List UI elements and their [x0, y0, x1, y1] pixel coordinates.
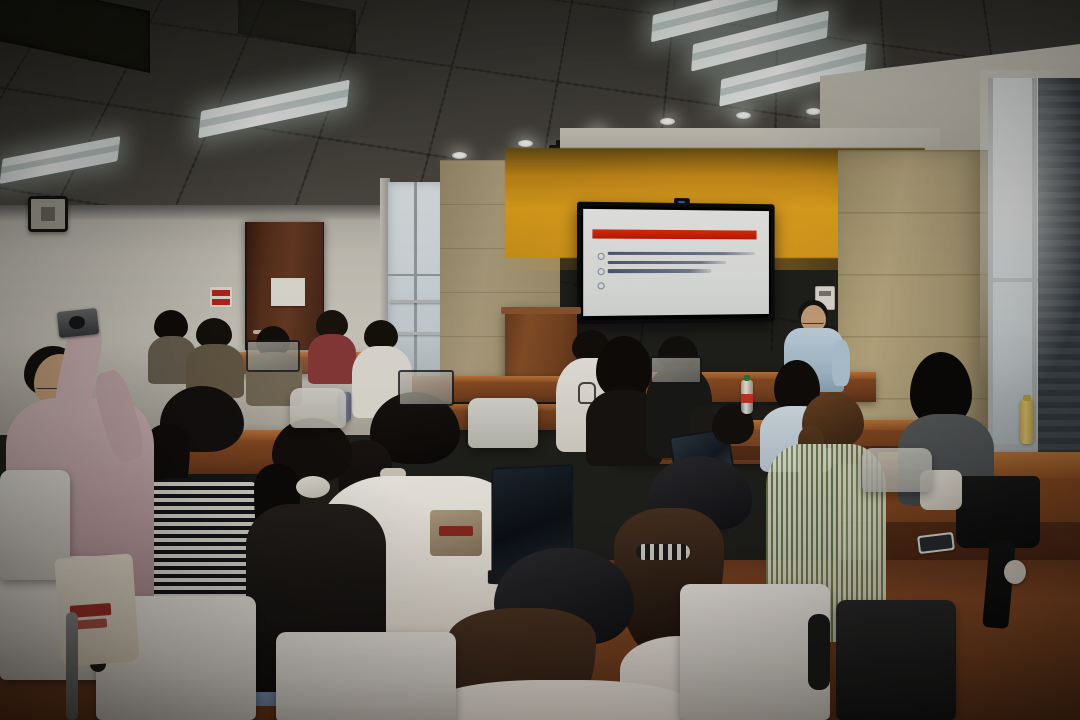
chair-back-row[interactable] [290, 388, 346, 428]
amber-bottle[interactable] [1020, 400, 1034, 444]
water-bottle[interactable] [741, 380, 753, 414]
conference-camera-icon [674, 198, 690, 205]
chair-right-row[interactable] [862, 448, 932, 492]
chair-front-right[interactable] [680, 584, 830, 720]
lecture-room-photo: White slide with a red horizontal rule a… [0, 0, 1080, 720]
door-sign [271, 278, 304, 306]
presentation-slide [583, 209, 769, 316]
chair-dark-right[interactable] [836, 600, 956, 720]
chair-leg [66, 612, 78, 720]
hair-scrunchie [296, 476, 330, 498]
slide-text-lines [608, 252, 754, 278]
laptop-far-row[interactable] [246, 340, 300, 372]
ceiling-downlight-icon [660, 118, 675, 125]
wall-notice-sign [209, 286, 233, 308]
laptop-back-row[interactable] [398, 370, 454, 406]
compact-camera[interactable] [57, 308, 99, 338]
slide-red-rule [593, 229, 757, 239]
wall-clock-icon [28, 196, 68, 232]
ceiling-downlight-icon [736, 112, 751, 119]
chair-front-center[interactable] [276, 632, 456, 720]
attendee-back-4 [308, 310, 356, 382]
black-handbag[interactable] [956, 476, 1040, 548]
ceiling-downlight-icon [452, 152, 467, 159]
attendee-back-2 [186, 318, 244, 394]
bag-charm [1004, 560, 1026, 584]
attendee-front-center [430, 548, 690, 720]
laptop-right-row[interactable] [650, 356, 702, 384]
window-glare [980, 70, 1080, 400]
attendee-back-6 [700, 404, 764, 464]
wall-display[interactable] [577, 202, 775, 325]
chair-mid-row[interactable] [468, 398, 538, 448]
ceiling-downlight-icon [806, 108, 821, 115]
